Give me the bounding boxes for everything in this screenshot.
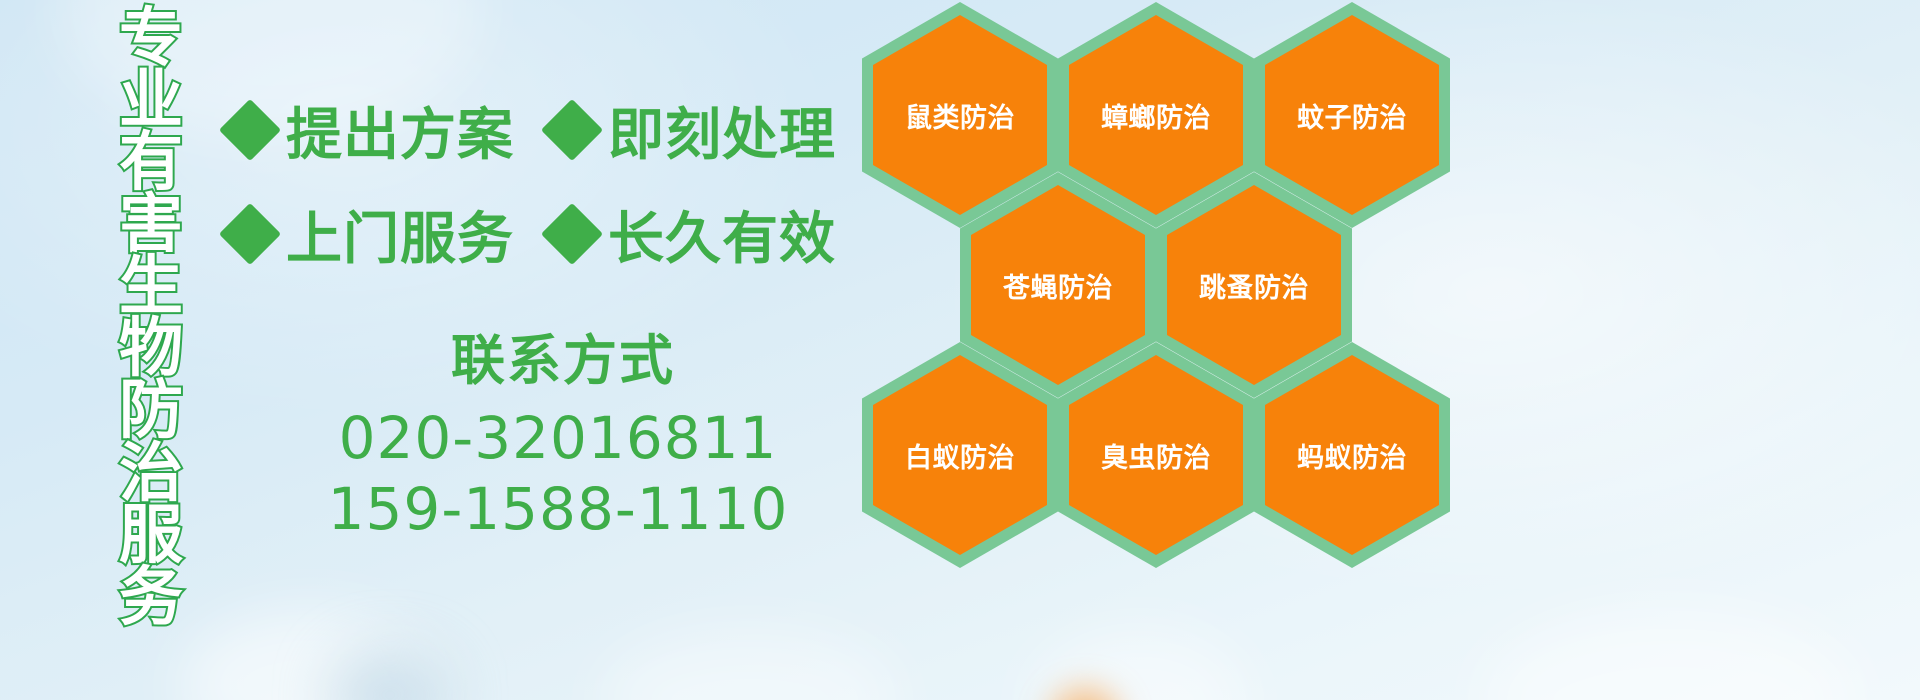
contact-block: 联系方式 020-32016811 159-1588-1110 <box>228 316 888 545</box>
feature-label: 上门服务 <box>286 194 514 275</box>
service-hex-inner: 蚊子防治 <box>1265 15 1439 215</box>
vertical-title-char: 有 <box>119 132 183 194</box>
background-bokeh-2 <box>330 650 450 700</box>
background-bokeh-4 <box>1030 630 1250 700</box>
background-bokeh-3 <box>600 630 900 700</box>
vertical-title-char: 业 <box>119 70 183 132</box>
diamond-bullet-icon <box>541 203 603 265</box>
vertical-title-char: 专 <box>119 8 183 70</box>
feature-row: 提出方案 即刻处理 <box>228 78 868 182</box>
feature-row: 上门服务 长久有效 <box>228 182 868 286</box>
service-hex-inner: 跳蚤防治 <box>1167 185 1341 385</box>
feature-item-propose-plan: 提出方案 <box>228 90 514 171</box>
vertical-title-char: 治 <box>119 443 183 505</box>
feature-list: 提出方案 即刻处理 上门服务 长久有效 <box>228 78 868 286</box>
vertical-title-char: 生 <box>119 256 183 318</box>
vertical-title-char: 务 <box>119 567 183 629</box>
service-hex-inner: 鼠类防治 <box>873 15 1047 215</box>
service-label: 蟑螂防治 <box>1101 96 1211 135</box>
pest-control-banner: 专 业 有 害 生 物 防 治 服 务 提出方案 即刻处理 上门服务 <box>0 0 1920 700</box>
vertical-title: 专 业 有 害 生 物 防 治 服 务 <box>103 8 199 629</box>
feature-label: 提出方案 <box>286 90 514 171</box>
service-hexagon-cluster: 鼠类防治 蟑螂防治 蚊子防治 苍蝇防治 跳蚤防治 白蚁防治 <box>846 0 1466 548</box>
feature-label: 即刻处理 <box>608 90 836 171</box>
vertical-title-char: 防 <box>119 380 183 442</box>
service-label: 蚂蚁防治 <box>1297 436 1407 475</box>
background-bokeh-orange <box>1050 688 1120 700</box>
diamond-bullet-icon <box>541 99 603 161</box>
service-label: 臭虫防治 <box>1101 436 1211 475</box>
diamond-bullet-icon <box>219 203 281 265</box>
service-hex-inner: 蟑螂防治 <box>1069 15 1243 215</box>
diamond-bullet-icon <box>219 99 281 161</box>
service-label: 跳蚤防治 <box>1199 266 1309 305</box>
phone-landline[interactable]: 020-32016811 <box>228 403 888 474</box>
feature-item-onsite-service: 上门服务 <box>228 194 514 275</box>
feature-item-long-lasting: 长久有效 <box>550 194 836 275</box>
service-hex-inner: 臭虫防治 <box>1069 355 1243 555</box>
background-bokeh-5 <box>1480 610 1860 700</box>
vertical-title-char: 害 <box>119 194 183 256</box>
service-label: 苍蝇防治 <box>1003 266 1113 305</box>
service-hex-inner: 苍蝇防治 <box>971 185 1145 385</box>
background-bokeh-1 <box>180 610 440 700</box>
vertical-title-char: 物 <box>119 318 183 380</box>
service-label: 白蚁防治 <box>905 436 1015 475</box>
feature-label: 长久有效 <box>608 194 836 275</box>
phone-mobile[interactable]: 159-1588-1110 <box>228 474 888 545</box>
service-hex-inner: 蚂蚁防治 <box>1265 355 1439 555</box>
contact-title: 联系方式 <box>228 316 888 395</box>
service-label: 蚊子防治 <box>1297 96 1407 135</box>
feature-item-immediate-handling: 即刻处理 <box>550 90 836 171</box>
vertical-title-char: 服 <box>119 505 183 567</box>
service-label: 鼠类防治 <box>905 96 1015 135</box>
service-hex-inner: 白蚁防治 <box>873 355 1047 555</box>
